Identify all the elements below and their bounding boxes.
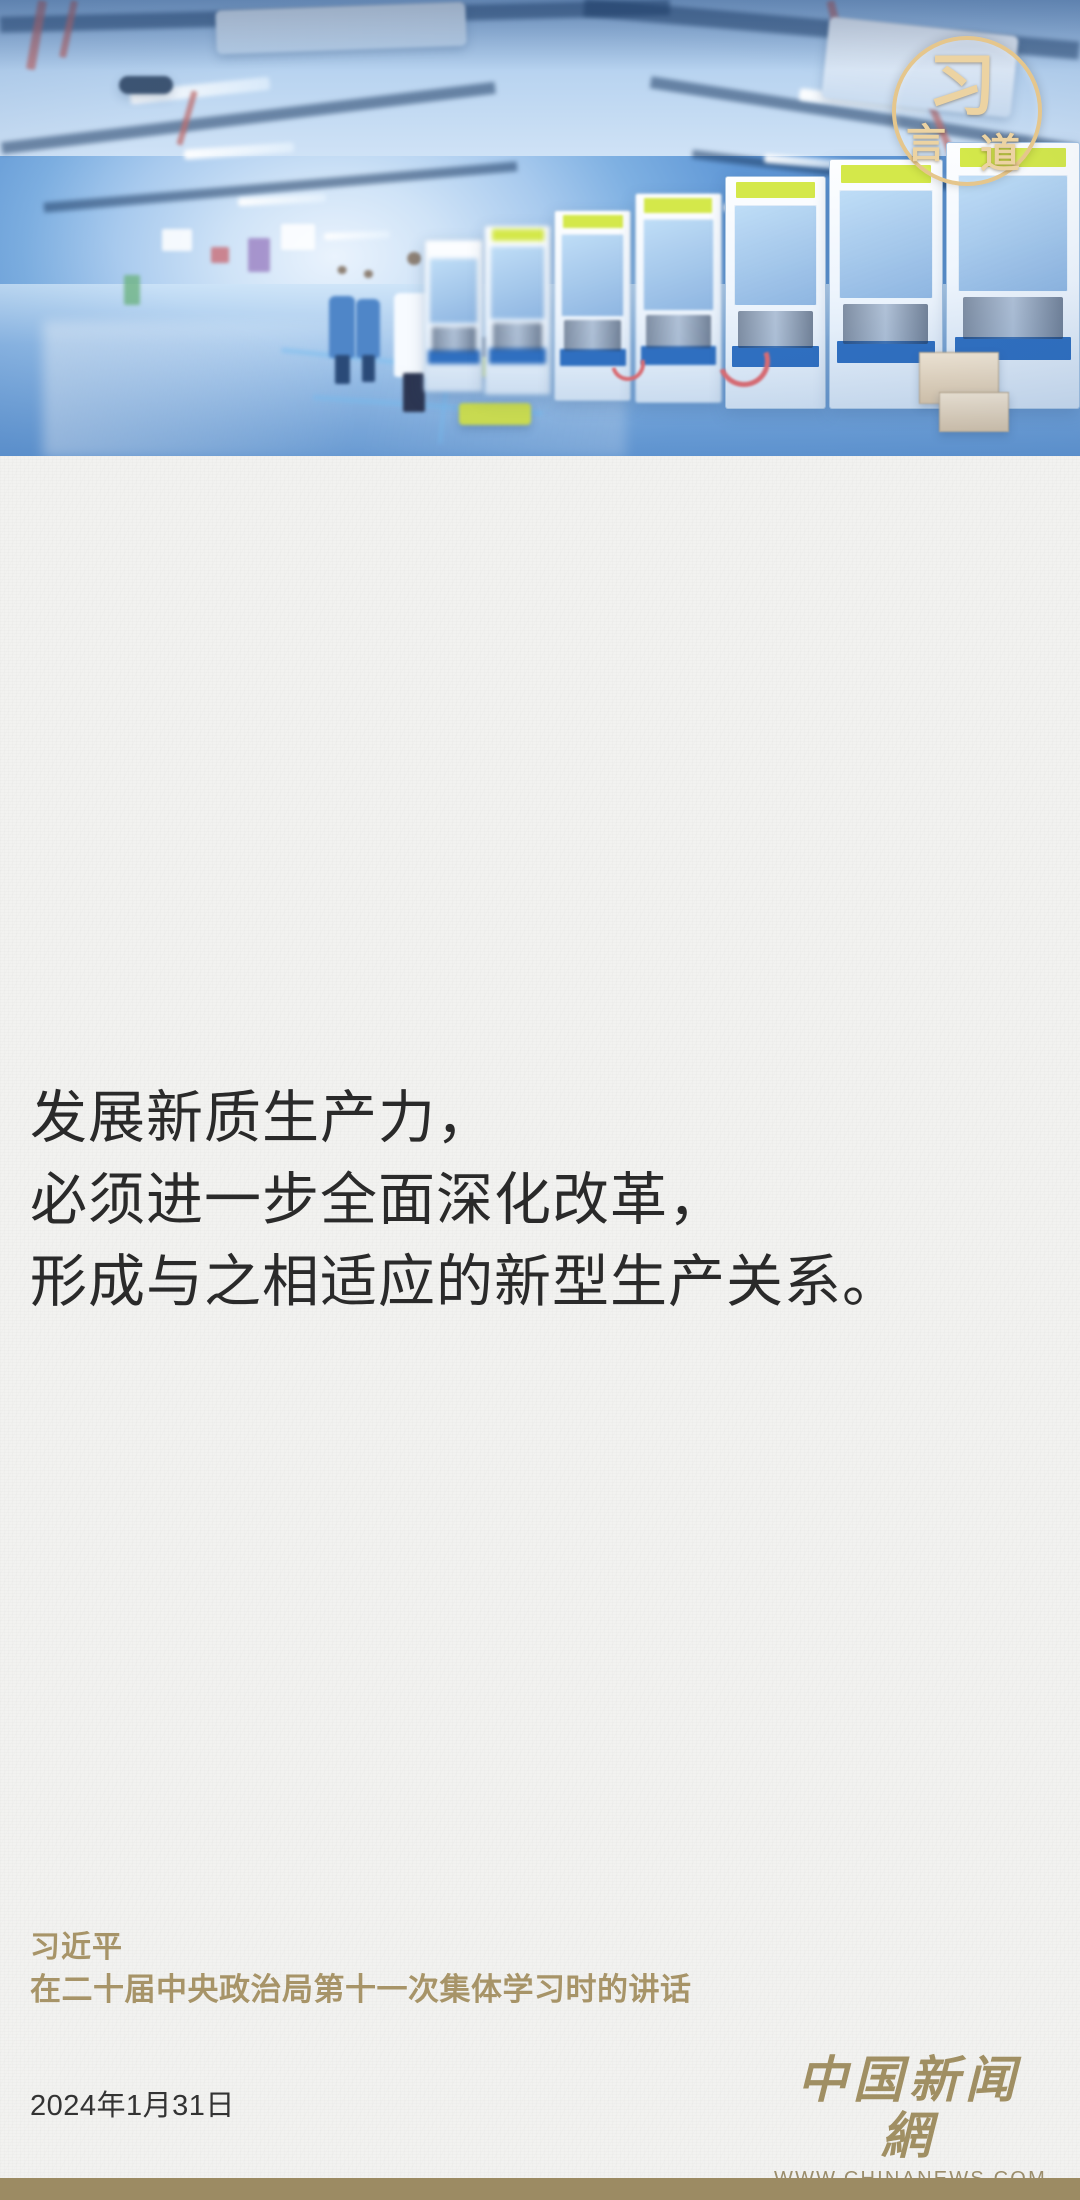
chinanews-name-cn: 中国新闻網 bbox=[774, 2052, 1044, 2164]
production-line bbox=[410, 165, 1080, 449]
worker-figure bbox=[356, 270, 380, 382]
bottom-accent-bar bbox=[0, 2178, 1080, 2200]
seal-char-xi: 习 bbox=[928, 52, 996, 120]
quote-line-3: 形成与之相适应的新型生产关系。 bbox=[30, 1250, 1050, 1316]
seal-char-dao: 道 bbox=[980, 134, 1020, 174]
quote-line-1: 发展新质生产力， bbox=[30, 1086, 1050, 1152]
hero-photo: 习 言 道 bbox=[0, 0, 1080, 458]
seal-characters: 习 言 道 bbox=[892, 36, 1042, 186]
attribution-block: 习近平 在二十届中央政治局第十一次集体学习时的讲话 bbox=[30, 1928, 830, 2012]
xi-yan-dao-seal-logo: 习 言 道 bbox=[892, 36, 1042, 186]
worker-figure bbox=[329, 266, 355, 384]
chinanews-logo: 中国新闻網 WWW.CHINANEWS.COM bbox=[774, 2052, 1044, 2192]
poster-root: 习 言 道 发展新质生产力， 必须进一步全面深化改革， 形成与之相适应的新型生产… bbox=[0, 0, 1080, 2200]
speaker-name: 习近平 bbox=[30, 1928, 830, 1968]
seal-char-yan: 言 bbox=[906, 124, 946, 164]
speech-date: 2024年1月31日 bbox=[30, 2082, 235, 2124]
quote-block: 发展新质生产力， 必须进一步全面深化改革， 形成与之相适应的新型生产关系。 bbox=[30, 1086, 1050, 1332]
speech-occasion: 在二十届中央政治局第十一次集体学习时的讲话 bbox=[30, 1968, 830, 2012]
quote-line-2: 必须进一步全面深化改革， bbox=[30, 1168, 1050, 1234]
